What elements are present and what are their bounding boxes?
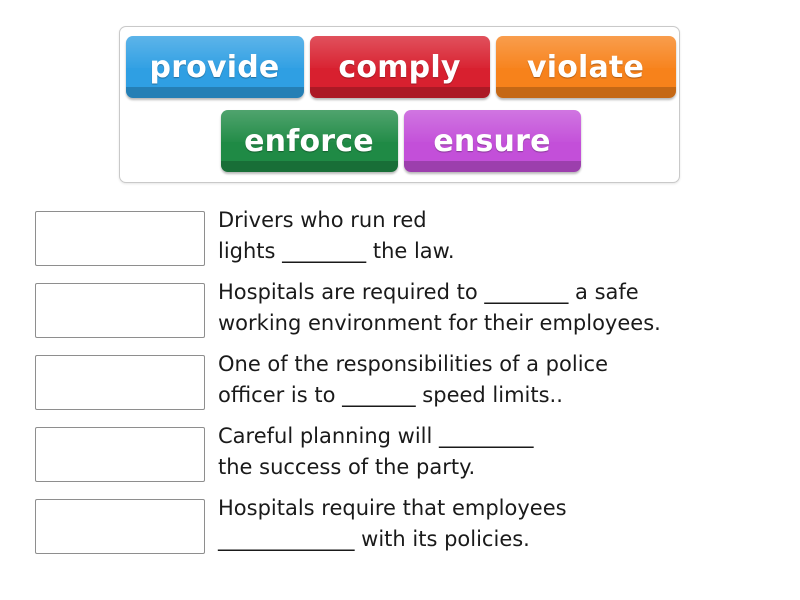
answer-drop-zone-4[interactable]	[35, 427, 205, 482]
word-tile-label: provide	[150, 50, 280, 85]
word-tile-violate[interactable]: violate	[496, 36, 676, 98]
answer-drop-zone-5[interactable]	[35, 499, 205, 554]
word-bank-row-1: provide comply violate	[120, 36, 681, 98]
word-tile-label: enforce	[244, 124, 374, 159]
word-bank-row-2: enforce ensure	[120, 110, 681, 172]
sentence-row: Hospitals require that employees _______…	[0, 491, 800, 563]
sentence-text-1: Drivers who run red lights ________ the …	[218, 205, 792, 267]
word-tile-provide[interactable]: provide	[126, 36, 304, 98]
word-tile-label: comply	[338, 50, 460, 85]
sentence-text-3: One of the responsibilities of a police …	[218, 349, 792, 411]
sentence-row: Hospitals are required to ________ a saf…	[0, 275, 800, 347]
sentence-list: Drivers who run red lights ________ the …	[0, 203, 800, 563]
word-tile-ensure[interactable]: ensure	[404, 110, 581, 172]
word-tile-label: ensure	[433, 124, 550, 159]
word-tile-label: violate	[527, 50, 644, 85]
word-tile-enforce[interactable]: enforce	[221, 110, 398, 172]
answer-drop-zone-1[interactable]	[35, 211, 205, 266]
sentence-row: Careful planning will _________ the succ…	[0, 419, 800, 491]
answer-drop-zone-3[interactable]	[35, 355, 205, 410]
answer-drop-zone-2[interactable]	[35, 283, 205, 338]
sentence-text-5: Hospitals require that employees _______…	[218, 493, 792, 555]
sentence-row: Drivers who run red lights ________ the …	[0, 203, 800, 275]
word-bank-panel: provide comply violate enforce ensure	[119, 26, 680, 183]
sentence-text-4: Careful planning will _________ the succ…	[218, 421, 792, 483]
word-tile-comply[interactable]: comply	[310, 36, 490, 98]
sentence-text-2: Hospitals are required to ________ a saf…	[218, 277, 792, 339]
sentence-row: One of the responsibilities of a police …	[0, 347, 800, 419]
